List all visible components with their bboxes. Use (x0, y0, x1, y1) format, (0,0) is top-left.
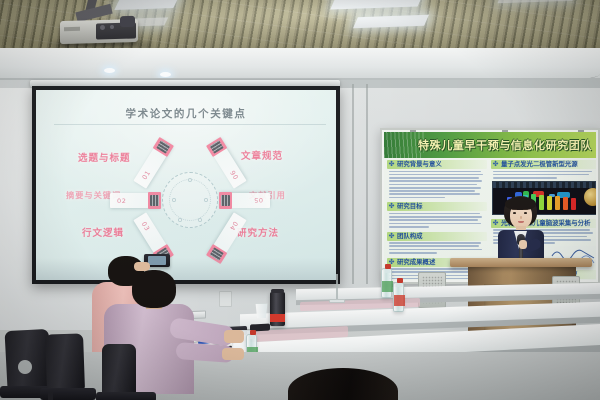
diagram-number-03: 03 (140, 220, 152, 232)
bottle-stand-rod (336, 274, 338, 300)
podium-top-surface (450, 258, 592, 267)
soffit-downlight (160, 72, 171, 77)
lecture-hall-photo: 学术论文的几个关键点 选题与标题 摘要与关键词 行文逻辑 文章规范 文献引用 研… (0, 0, 600, 400)
screen-lower-shading (36, 258, 336, 280)
water-bottle (393, 282, 404, 312)
snowflake-icon: ✤ (388, 233, 395, 240)
diagram-segment-02: 02 (110, 193, 160, 208)
snowflake-icon: ✤ (388, 161, 395, 168)
paper-cup (255, 303, 268, 318)
diagram-segment-06: 06 (207, 138, 246, 188)
slide-label-topic-title: 选题与标题 (78, 150, 131, 164)
projection-screen-frame: 学术论文的几个关键点 选题与标题 摘要与关键词 行文逻辑 文章规范 文献引用 研… (32, 86, 340, 284)
diagram-segment-04: 04 (207, 212, 246, 262)
spectrum-bar (555, 196, 560, 210)
diagram-dot (198, 218, 202, 222)
slide-title: 学术论文的几个关键点 (36, 106, 336, 121)
water-bottle (381, 268, 392, 298)
poster-section-body (387, 169, 487, 198)
poster-section-title: 研究背景与意义 (397, 160, 442, 169)
diagram-segment-cap (148, 192, 161, 209)
poster-section-body (387, 211, 487, 227)
diagram-segment-cap (219, 192, 232, 209)
slide-radial-diagram: 01 02 03 04 05 (132, 142, 248, 258)
bottle-neck (385, 269, 390, 273)
poster-title: 特殊儿童早干预与信息化研究团队 (418, 137, 594, 153)
diagram-number-04: 04 (228, 220, 240, 232)
projector-lens (120, 16, 135, 27)
diagram-dot (204, 198, 208, 202)
diagram-segment-01: 01 (133, 138, 172, 188)
diagram-number-02: 02 (117, 197, 126, 205)
chair-backrest (45, 333, 85, 390)
diagram-segment-05: 05 (220, 193, 270, 208)
diagram-number-06: 06 (228, 169, 240, 181)
slide-label-writing-logic: 行文逻辑 (82, 225, 124, 239)
presenter-eye (524, 212, 527, 214)
presenter-hair-fringe (505, 197, 536, 210)
diagram-dot (188, 178, 192, 182)
attendee-hand (224, 330, 244, 343)
chair-leg (48, 392, 53, 400)
presenter-eyebrow (523, 209, 528, 210)
poster-section-title: 研究目标 (397, 202, 423, 211)
projector-knob (100, 25, 105, 30)
wall-outlet (219, 291, 232, 307)
chair-backrest (5, 329, 52, 389)
poster-section-body (491, 169, 596, 179)
attendee-hand (222, 348, 244, 360)
presenter-eyebrow (512, 209, 517, 210)
snowflake-icon: ✤ (492, 161, 499, 168)
poster-section-title: 研究成果概述 (397, 258, 435, 267)
spectrum-bar (563, 197, 568, 210)
chair-seat (96, 392, 156, 400)
presenter-hand (519, 240, 527, 249)
poster-header-banner: 特殊儿童早干预与信息化研究团队 (384, 132, 596, 158)
thermos-label (270, 314, 285, 322)
phone-screen (148, 256, 166, 265)
poster-section: ✤ 研究目标 (387, 202, 487, 227)
diagram-dot (172, 198, 176, 202)
spectrum-glow-orb (584, 188, 596, 206)
projector-brand-label (64, 27, 80, 31)
poster-section-header: ✤ 研究背景与意义 (387, 160, 487, 169)
diagram-number-01: 01 (140, 169, 152, 181)
presenter-nose (520, 216, 522, 219)
bottle-stand-base (329, 299, 345, 303)
poster-section-header: ✤ 团队构成 (387, 232, 487, 241)
bottle-label (394, 295, 405, 306)
poster-section-title: 量子点发光二极管新型光源 (501, 160, 578, 169)
diagram-number-05: 05 (254, 197, 263, 205)
poster-section: ✤ 团队构成 (387, 232, 487, 254)
chair-handle-hole (18, 360, 32, 374)
thermos-lid (271, 289, 284, 293)
presenter-eye (513, 212, 516, 214)
spectrum-bar (571, 198, 576, 210)
projector-knob (110, 25, 114, 29)
poster-section-body (387, 241, 487, 254)
bottle-label (382, 281, 393, 292)
poster-section: ✤ 研究背景与意义 (387, 160, 487, 198)
diagram-dot (178, 218, 182, 222)
poster-section-header: ✤ 研究目标 (387, 202, 487, 211)
slide-title-rule (54, 124, 326, 125)
poster-section-header: ✤ 量子点发光二极管新型光源 (491, 160, 596, 169)
attendee-head (132, 270, 176, 308)
bottle-neck (250, 335, 255, 339)
poster-section-title: 团队构成 (397, 232, 423, 241)
soffit-downlight (104, 68, 115, 73)
snowflake-icon: ✤ (388, 203, 395, 210)
thermos-flask (270, 292, 285, 326)
spectrum-toolbar (493, 182, 596, 188)
projected-slide: 学术论文的几个关键点 选题与标题 摘要与关键词 行文逻辑 文章规范 文献引用 研… (36, 90, 336, 280)
chair-backrest (102, 344, 136, 396)
bottle-neck (397, 283, 402, 287)
